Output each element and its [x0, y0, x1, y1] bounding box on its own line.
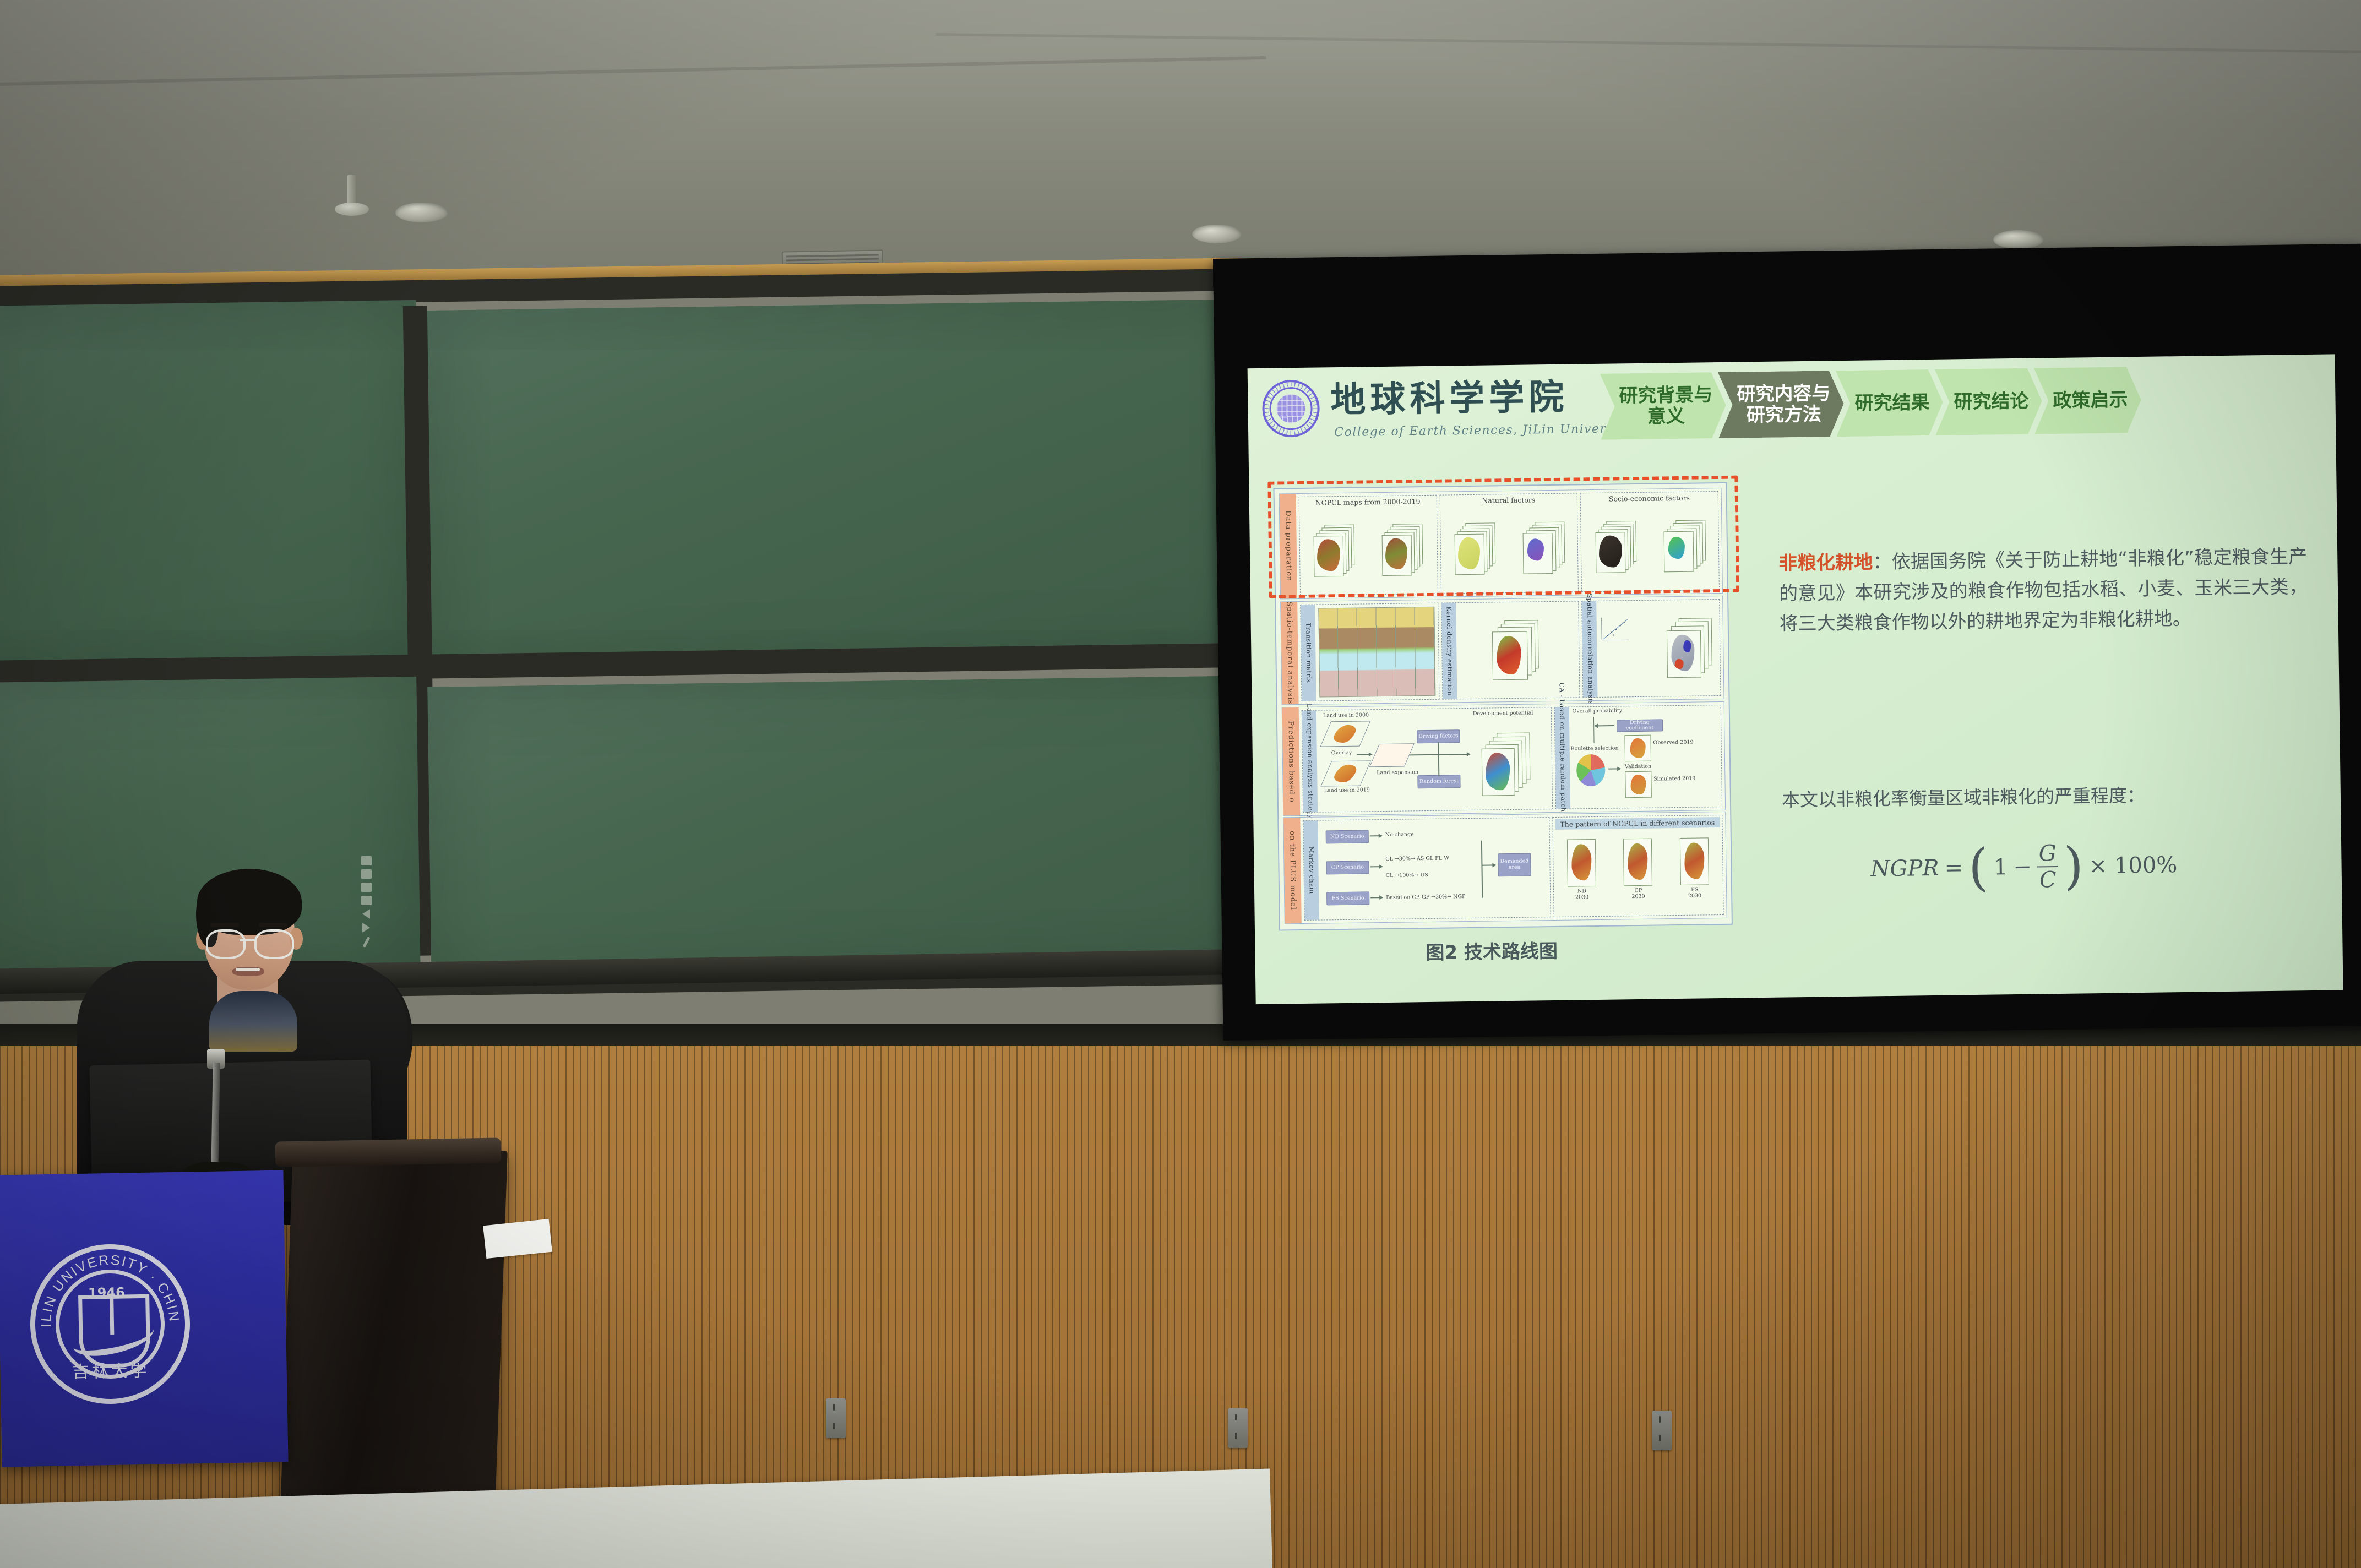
seal-text-cn: 吉林大学: [65, 1357, 157, 1383]
label-cl-30: CL →30%→ AS GL FL W: [1385, 855, 1449, 862]
chip-cp-scenario: CP Scenario: [1326, 861, 1369, 874]
scenario-code: ND: [1568, 888, 1596, 895]
figure-row-plus-model: on the PLUS model Markov chain ND Scenar…: [1283, 812, 1727, 924]
cell-title: The pattern of NGPCL in different scenar…: [1555, 817, 1720, 830]
stage-label-spatio-temporal: Spatio-temporal analysis: [1281, 602, 1298, 704]
scenario-map: FS 2030: [1680, 837, 1709, 899]
eyeglasses-lens-left: [206, 929, 246, 959]
wall-outlet: [1652, 1411, 1672, 1450]
label-overall-probability: Overall probability: [1573, 707, 1623, 714]
definition-paragraph: 非粮化耕地：依据国务院《关于防止耕地“非粮化”稳定粮食生产的意见》本研究涉及的粮…: [1778, 542, 2308, 640]
ceiling-seam: [0, 56, 1266, 86]
stage-label-plus-model: on the PLUS model: [1283, 818, 1302, 923]
cell-side-label: Spatial autocorrelation analysis: [1582, 601, 1598, 697]
label-cl-100: CL →100%→ US: [1386, 872, 1428, 879]
figure-cell: Land expansion analysis strategy Land us…: [1302, 707, 1553, 813]
ceiling-speaker-icon: [1993, 230, 2044, 249]
scenario-year: 2030: [1624, 894, 1652, 900]
eyebrow-left: [210, 923, 239, 927]
chip-driving-factors: Driving factors: [1417, 729, 1460, 743]
cell-side-label: Land expansion analysis strategy: [1302, 711, 1318, 812]
ngpr-formula: NGPR = ( 1 − G C ) × 100%: [1870, 841, 2178, 893]
map-stack-icon: [1492, 620, 1543, 681]
scenario-year: 2030: [1568, 894, 1596, 901]
figure-caption: 图2 技术路线图: [1426, 936, 1558, 965]
nav-tab-background[interactable]: 研究背景与 意义: [1600, 372, 1727, 440]
cell-side-label: Markov chain: [1303, 821, 1319, 920]
scenario-map: CP 2030: [1623, 839, 1652, 900]
scatter-plot-icon: [1598, 604, 1631, 655]
podium-top-surface: [275, 1137, 502, 1167]
mouth: [232, 967, 264, 976]
slide-text-panel: 非粮化耕地：依据国务院《关于防止耕地“非粮化”稳定粮食生产的意见》本研究涉及的粮…: [1778, 542, 2308, 640]
label-land-expansion: Land expansion: [1377, 770, 1407, 776]
chip-driving-coefficient: Driving coefficient: [1617, 719, 1663, 732]
jilin-university-seal-icon: JILIN UNIVERSITY · CHINA 1946 吉林大学: [29, 1243, 191, 1405]
nav-tab-conclusions[interactable]: 研究结论: [1935, 368, 2043, 435]
label-roulette-selection: Roulette selection: [1570, 745, 1618, 752]
scenario-year: 2030: [1680, 892, 1709, 899]
paper-sheet: [483, 1219, 552, 1259]
chip-demanded-area: Demanded area: [1498, 853, 1531, 877]
figure-cell: Spatial autocorrelation analysis: [1582, 599, 1721, 698]
eyebrow-right: [259, 923, 287, 927]
stage-label-predictions: Predictions based o: [1282, 707, 1301, 815]
chip-random-forest: Random forest: [1417, 775, 1460, 788]
presentation-slide: 地球科学学院 College of Earth Sciences, JiLin …: [1248, 354, 2343, 1004]
formula-paren-close: ): [2063, 848, 2083, 884]
eyeglasses-bridge: [240, 939, 255, 941]
scenario-map: ND 2030: [1567, 839, 1596, 901]
map-stack-icon: [1667, 618, 1718, 679]
formula-numerator: G: [2037, 842, 2058, 864]
podium-body: [280, 1151, 508, 1525]
slide-header: 地球科学学院 College of Earth Sciences, JiLin …: [1248, 354, 2336, 454]
label-based-on: Based on CP, GP →30%→ NGP: [1386, 894, 1465, 901]
lecture-hall-photo: 地球科学学院 College of Earth Sciences, JiLin …: [0, 0, 2361, 1568]
next-slide-icon[interactable]: [362, 923, 370, 933]
label-land-use-2000: Land use in 2000: [1323, 712, 1369, 718]
scenario-code: FS: [1680, 886, 1709, 893]
projection-screen: 地球科学学院 College of Earth Sciences, JiLin …: [1213, 244, 2361, 1041]
figure-cell: The pattern of NGPCL in different scenar…: [1552, 815, 1724, 917]
label-observed-2019: Observed 2019: [1653, 740, 1679, 746]
pie-chart-icon: [1576, 754, 1606, 787]
eyeglasses-lens-right: [254, 929, 294, 959]
sweater: [209, 991, 297, 1052]
chip-nd-scenario: ND Scenario: [1326, 830, 1369, 843]
label-development-potential: Development potential: [1473, 710, 1533, 716]
college-emblem-icon: [1262, 379, 1320, 437]
ceiling-speaker-icon: [395, 203, 448, 222]
figure-highlight-box: [1267, 476, 1739, 598]
formula-equals: =: [1944, 855, 1963, 880]
pen-icon[interactable]: [362, 937, 370, 948]
chip-fs-scenario: FS Scenario: [1326, 891, 1369, 905]
formula-paren-open: (: [1968, 850, 1989, 885]
figure-row-predictions: Predictions based o Land expansion analy…: [1282, 701, 1726, 816]
label-land-use-2019: Land use in 2019: [1324, 787, 1370, 793]
formula-denominator: C: [2038, 869, 2058, 891]
formula-one: 1: [1994, 854, 2008, 880]
wall-outlet: [1228, 1408, 1248, 1448]
formula-lhs: NGPR: [1870, 856, 1939, 882]
definition-keyword: 非粮化耕地: [1778, 551, 1873, 574]
cell-side-label: Transition matrix: [1301, 605, 1316, 701]
formula-times-100: × 100%: [2089, 852, 2178, 879]
slide-nav: 研究背景与 意义 研究内容与 研究方法 研究结果 研究结论 政策启示: [1600, 367, 2141, 440]
cell-side-label: Kernel density estimation: [1441, 603, 1457, 699]
figure-cell: CA - based on multiple random patch seed…: [1554, 705, 1723, 809]
nav-tab-results[interactable]: 研究结果: [1836, 369, 1944, 437]
nav-tab-methods[interactable]: 研究内容与 研究方法: [1718, 371, 1845, 438]
cell-side-label: CA - based on multiple random patch seed…: [1555, 707, 1570, 809]
figure-cell: Markov chain ND Scenario CP Scenario FS …: [1303, 817, 1551, 921]
metric-intro: 本文以非粮化率衡量区域非粮化的严重程度：: [1782, 781, 2146, 812]
college-name-en: College of Earth Sciences, JiLin Univers…: [1334, 422, 1631, 439]
label-simulated-2019: Simulated 2019: [1653, 776, 1680, 782]
ceiling-seam-2: [936, 33, 2361, 53]
label-overlay: Overlay: [1331, 750, 1352, 756]
figure-cell: Transition matrix: [1300, 603, 1439, 701]
formula-minus: −: [2013, 854, 2032, 880]
nav-tab-policy[interactable]: 政策启示: [2034, 367, 2142, 434]
scenario-code: CP: [1624, 888, 1652, 894]
wall-outlet: [826, 1398, 846, 1438]
figure-row-spatio-temporal: Spatio-temporal analysis Transition matr…: [1280, 596, 1724, 705]
college-name-cn: 地球科学学院: [1330, 380, 1569, 418]
label-validation: Validation: [1625, 764, 1651, 770]
prev-slide-icon[interactable]: [362, 909, 370, 919]
label-no-change: No change: [1385, 831, 1414, 838]
ceiling-speaker-icon: [1192, 225, 1242, 243]
formula-fraction: G C: [2037, 842, 2058, 891]
map-stack-icon: [1481, 732, 1535, 794]
